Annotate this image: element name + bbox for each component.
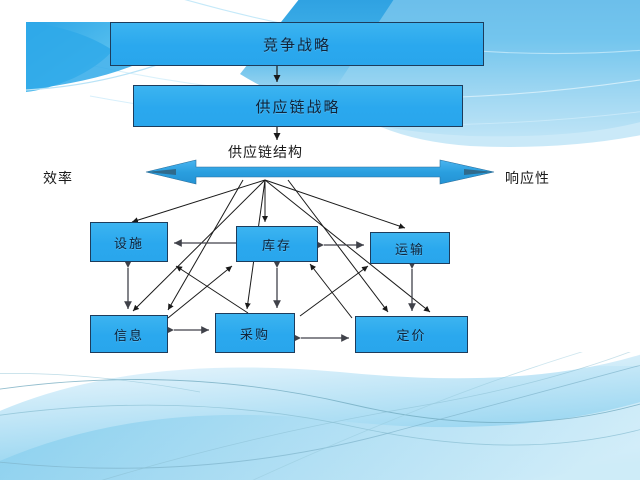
box-sourcing[interactable]: 采购 [215, 313, 295, 353]
label-efficiency: 效率 [43, 168, 73, 188]
box-supply-chain-strategy[interactable]: 供应链战略 [133, 85, 463, 127]
label-supply-chain-structure: 供应链结构 [228, 142, 303, 162]
box-facilities[interactable]: 设施 [90, 222, 168, 262]
box-inventory[interactable]: 库存 [236, 226, 318, 262]
label-responsiveness: 响应性 [505, 168, 550, 188]
box-competitive-strategy[interactable]: 竞争战略 [110, 22, 484, 66]
box-information[interactable]: 信息 [90, 315, 168, 353]
box-pricing[interactable]: 定价 [355, 316, 468, 353]
box-transportation[interactable]: 运输 [370, 232, 450, 264]
slide-canvas: 竞争战略 供应链战略 设施 库存 运输 信息 采购 定价 供应链结构 效率 响应… [0, 0, 640, 480]
